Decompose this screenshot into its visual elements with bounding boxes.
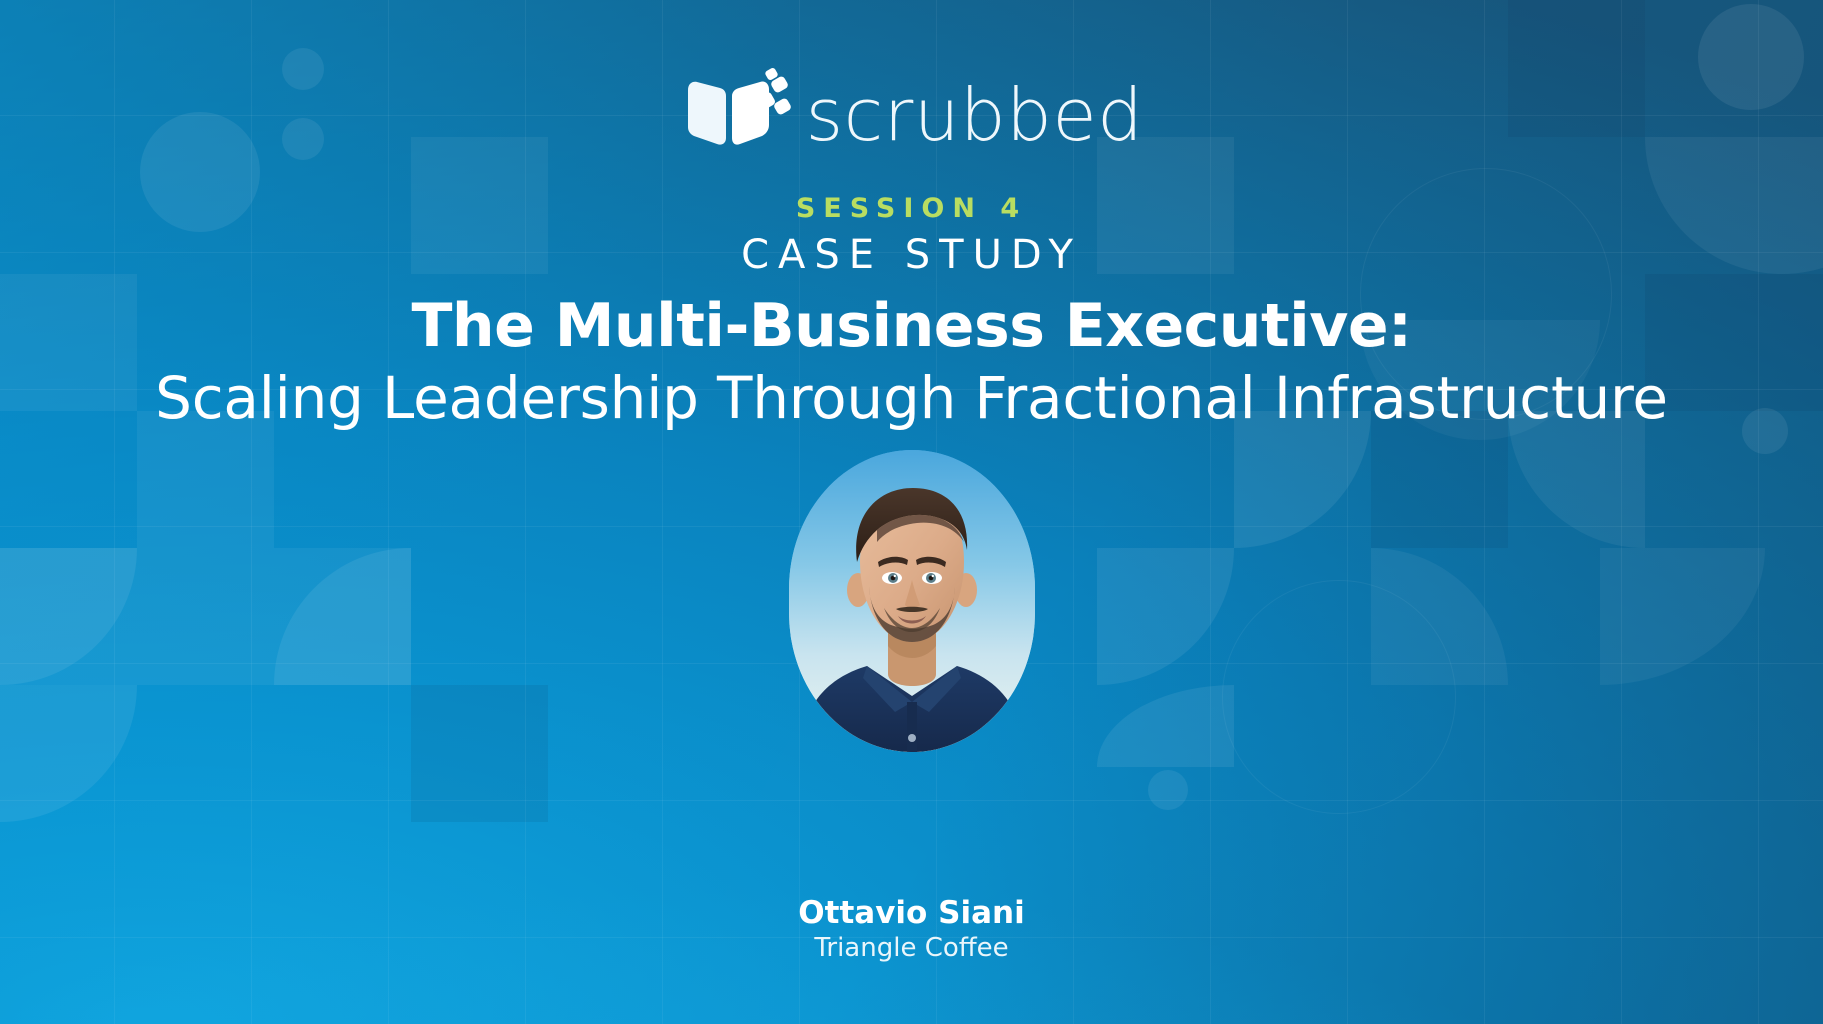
session-label: SESSION 4 — [0, 193, 1823, 224]
portrait-frame — [789, 450, 1035, 752]
presentation-title-slide: scrubbed SESSION 4 CASE STUDY The Multi-… — [0, 0, 1823, 1024]
speaker-portrait — [789, 450, 1035, 752]
brand-wordmark: scrubbed — [806, 79, 1144, 151]
section-label: CASE STUDY — [0, 232, 1823, 278]
brand-logo: scrubbed — [0, 68, 1823, 154]
speaker-organization: Triangle Coffee — [0, 933, 1823, 963]
slide-title-line-1: The Multi-Business Executive: — [0, 293, 1823, 360]
scrubbed-leaf-icon — [680, 68, 792, 154]
slide-title-line-2: Scaling Leadership Through Fractional In… — [0, 366, 1823, 431]
speaker-name: Ottavio Siani — [0, 895, 1823, 931]
